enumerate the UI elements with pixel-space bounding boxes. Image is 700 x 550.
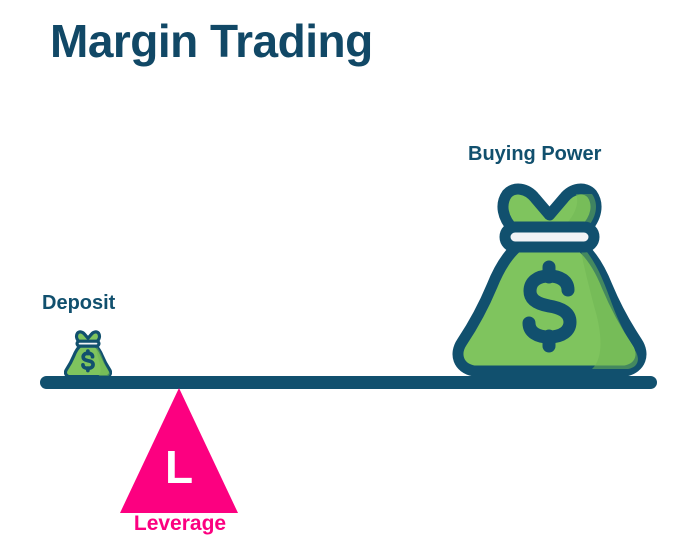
money-bag-icon-large <box>452 182 647 380</box>
page-title: Margin Trading <box>50 14 373 68</box>
buying-power-label: Buying Power <box>468 143 601 166</box>
margin-trading-infographic: Margin Trading Buying Power Deposit <box>0 0 700 550</box>
deposit-label: Deposit <box>42 292 115 315</box>
leverage-fulcrum-triangle: L <box>120 388 238 513</box>
leverage-label: Leverage <box>122 512 238 536</box>
money-bag-icon-small <box>64 330 112 379</box>
